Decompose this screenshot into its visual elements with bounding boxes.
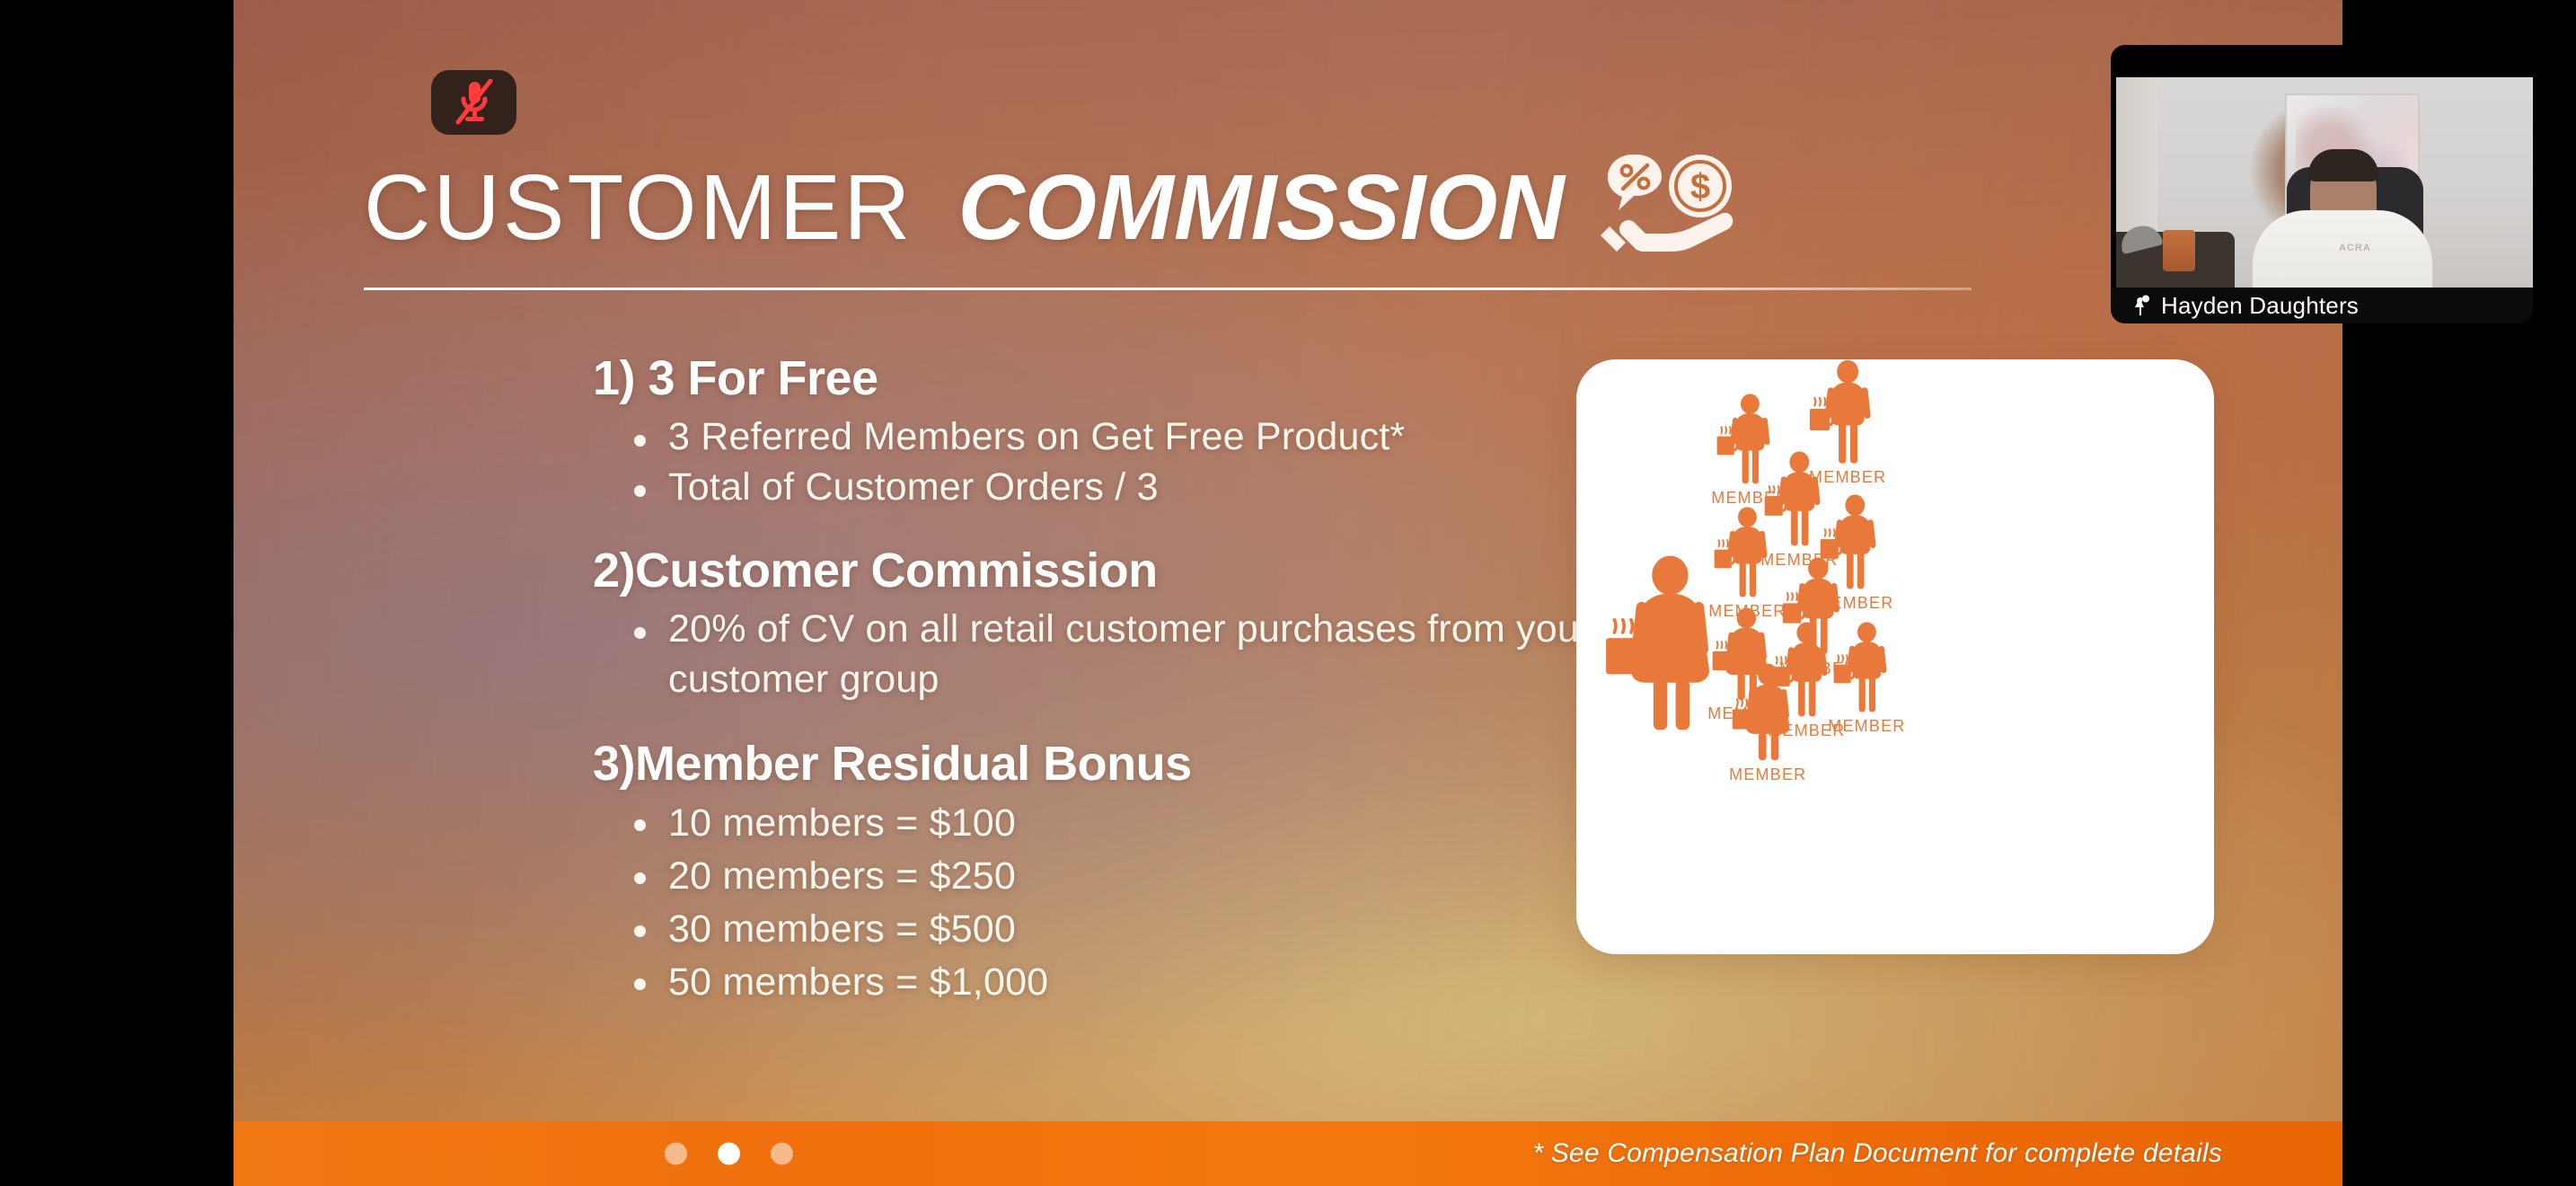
pin-icon — [2132, 295, 2150, 316]
member-label: MEMBER — [1729, 766, 1806, 784]
section-bullet-list: 10 members = $100 20 members = $250 30 m… — [593, 797, 1635, 1009]
member-figure: MEMBER — [1731, 661, 1805, 764]
slide-title-row: CUSTOMER COMMISSION $ — [364, 153, 2097, 261]
member-network-diagram-card: MEMBER MEMBER MEMBER — [1576, 359, 2214, 954]
pagination-dot-2[interactable] — [718, 1143, 740, 1165]
bullet-item: 3 Referred Members on Get Free Product* — [593, 412, 1635, 463]
section-heading: 2)Customer Commission — [593, 543, 1635, 599]
screen-stage: CUSTOMER COMMISSION $ — [0, 0, 2576, 1186]
bullet-item: 30 members = $500 — [593, 903, 1635, 956]
video-bg-cup — [2163, 230, 2195, 271]
footnote-disclaimer: * See Compensation Plan Document for com… — [1532, 1138, 2222, 1169]
mute-indicator-pill[interactable] — [431, 70, 516, 135]
bullet-item: 20 members = $250 — [593, 850, 1635, 903]
title-underline-rule — [364, 288, 1972, 290]
section-member-residual-bonus: 3)Member Residual Bonus 10 members = $10… — [593, 736, 1635, 1009]
slide-pagination-dots[interactable] — [665, 1143, 793, 1165]
participant-name-bar: Hayden Daughters — [2111, 288, 2533, 323]
section-customer-commission: 2)Customer Commission 20% of CV on all r… — [593, 543, 1635, 704]
page-title-bold: COMMISSION — [958, 161, 1565, 253]
presentation-slide: CUSTOMER COMMISSION $ — [234, 0, 2342, 1186]
microphone-muted-icon — [454, 79, 494, 126]
svg-text:$: $ — [1690, 167, 1710, 207]
pagination-dot-3[interactable] — [771, 1143, 793, 1165]
bullet-item: 10 members = $100 — [593, 797, 1635, 850]
slide-title-block: CUSTOMER COMMISSION $ — [364, 153, 2097, 290]
page-title-light: CUSTOMER — [364, 161, 913, 253]
hand-holding-dollar-percent-icon: $ — [1599, 149, 1734, 253]
section-bullet-list: 3 Referred Members on Get Free Product* … — [593, 412, 1635, 513]
bullet-item: 20% of CV on all retail customer purchas… — [593, 605, 1635, 705]
member-figure: MEMBER — [1832, 620, 1901, 715]
bullet-item: 50 members = $1,000 — [593, 956, 1635, 1009]
section-bullet-list: 20% of CV on all retail customer purchas… — [593, 605, 1635, 705]
video-shirt-logo: ACRA — [2339, 243, 2371, 253]
pagination-dot-1[interactable] — [665, 1143, 687, 1165]
slide-body-content: 1) 3 For Free 3 Referred Members on Get … — [593, 350, 1635, 1036]
bullet-item: Total of Customer Orders / 3 — [593, 463, 1635, 513]
member-figure: MEMBER — [1713, 505, 1782, 600]
section-3-for-free: 1) 3 For Free 3 Referred Members on Get … — [593, 350, 1635, 512]
participant-name-label: Hayden Daughters — [2161, 292, 2359, 320]
section-heading: 1) 3 For Free — [593, 350, 1635, 407]
participant-video-tile[interactable]: ACRA Hayden Daughters — [2111, 45, 2533, 323]
video-person-hair — [2308, 149, 2378, 181]
section-heading: 3)Member Residual Bonus — [593, 736, 1635, 792]
member-label: MEMBER — [1828, 717, 1905, 736]
participant-video-feed: ACRA — [2116, 77, 2533, 289]
slide-footer-bar: * See Compensation Plan Document for com… — [234, 1121, 2342, 1186]
